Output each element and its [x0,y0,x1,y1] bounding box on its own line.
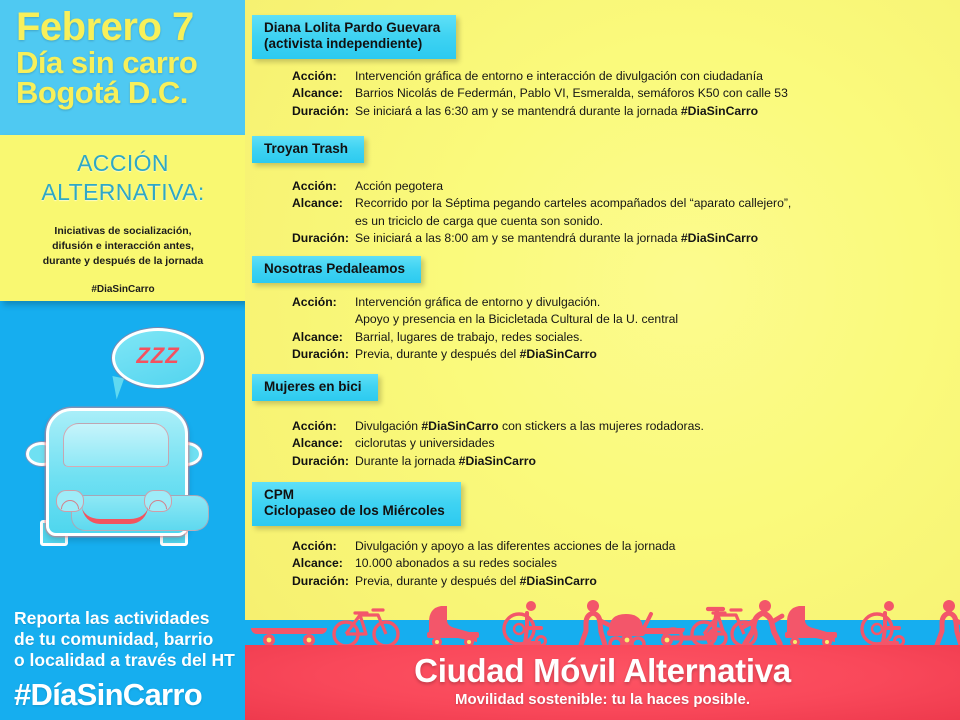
title-date: Febrero 7 [16,8,241,47]
zzz-text: ZZZ [115,331,201,381]
activity-detail-value: Barrios Nicolás de Federmán, Pablo VI, E… [355,85,960,102]
sleeping-car-illustration: ZZZ [0,320,245,585]
cta-hashtag: #DíaSinCarro [14,677,246,713]
activity-detail-label: Acción: [245,418,355,435]
activity-title-bar[interactable]: CPMCiclopaseo de los Miércoles [252,482,461,526]
activity-detail-value: Durante la jornada #DiaSinCarro [355,453,960,470]
activity-detail-row: Alcance:Barrial, lugares de trabajo, red… [245,329,960,346]
activity-detail-label: Alcance: [245,435,355,452]
activity-detail-label: Alcance: [245,85,355,102]
activity-detail-value: Acción pegotera [355,178,960,195]
activity-detail-row: Alcance:Barrios Nicolás de Federmán, Pab… [245,85,960,102]
activity-detail-value: Barrial, lugares de trabajo, redes socia… [355,329,960,346]
footer-title: Ciudad Móvil Alternativa [245,645,960,690]
activity-detail-value: ciclorutas y universidades [355,435,960,452]
poster-title: Febrero 7 Día sin carro Bogotá D.C. [16,8,241,108]
accion-alternativa-heading: ACCIÓN ALTERNATIVA: [0,135,246,208]
accion-alternativa-card: ACCIÓN ALTERNATIVA: Iniciativas de socia… [0,135,246,301]
activity-detail-row: Duración:Durante la jornada #DiaSinCarro [245,453,960,470]
activity-detail-label: Duración: [245,573,355,590]
activity-title-line: CPM [264,487,445,503]
hashtag-inline: #DiaSinCarro [681,104,758,118]
activity-title-line: Ciclopaseo de los Miércoles [264,503,445,519]
activity-detail-row: Duración:Previa, durante y después del #… [245,346,960,363]
cta-line-1: Reporta las actividades [14,608,246,629]
icon-group-2 [609,600,960,647]
activity-detail-label: Duración: [245,230,355,247]
activity-detail-label: Acción: [245,178,355,195]
activity-detail-value: es un triciclo de carga que cuenta son s… [355,213,960,230]
car-eye-left [56,490,84,512]
title-event: Día sin carro [16,48,241,78]
thought-bubble: ZZZ [112,328,204,388]
activity-title-bar[interactable]: Diana Lolita Pardo Guevara(activista ind… [252,15,456,59]
activity-title-bar[interactable]: Mujeres en bici [252,374,378,401]
footer-subtitle: Movilidad sostenible: tu la haces posibl… [245,691,960,708]
activity-block-list: Diana Lolita Pardo Guevara(activista ind… [245,0,960,600]
activity-detail-row: Duración:Previa, durante y después del #… [245,573,960,590]
hashtag-inline: #DiaSinCarro [681,231,758,245]
activity-detail-row: Duración:Se iniciará a las 6:30 am y se … [245,103,960,120]
report-call-to-action: Reporta las actividades de tu comunidad,… [14,608,246,713]
activity-detail-row: Acción:Divulgación y apoyo a las diferen… [245,538,960,555]
car-icon [24,402,204,547]
hashtag-inline: #DiaSinCarro [520,347,597,361]
activity-title-bar[interactable]: Nosotras Pedaleamos [252,256,421,283]
accion-alternativa-hashtag: #DiaSinCarro [0,270,246,295]
activity-title-line: Nosotras Pedaleamos [264,261,405,277]
activity-detail-row: Acción:Intervención gráfica de entorno e… [245,68,960,85]
accion-alternativa-body-line1: Iniciativas de socialización, [54,225,191,237]
activity-detail-row: Acción:Intervención gráfica de entorno y… [245,294,960,311]
activity-detail-label: Duración: [245,346,355,363]
footer-banner: Ciudad Móvil Alternativa Movilidad soste… [245,645,960,720]
accion-alternativa-heading-line1: ACCIÓN [77,150,169,176]
activity-detail-label: Duración: [245,103,355,120]
activity-detail-label: Acción: [245,294,355,311]
activity-detail-value: Previa, durante y después del #DiaSinCar… [355,346,960,363]
hashtag-inline: #DiaSinCarro [520,574,597,588]
activity-detail-row: Duración:Se iniciará a las 8:00 am y se … [245,230,960,247]
activity-detail-row: Acción:Acción pegotera [245,178,960,195]
activity-detail-value: Intervención gráfica de entorno e intera… [355,68,960,85]
activity-detail-value: Divulgación y apoyo a las diferentes acc… [355,538,960,555]
hashtag-inline: #DiaSinCarro [459,454,536,468]
activity-detail-row: Alcance:ciclorutas y universidades [245,435,960,452]
activity-detail-value: 10.000 abonados a su redes sociales [355,555,960,572]
activity-detail-value: Recorrido por la Séptima pegando cartele… [355,195,960,212]
activity-title-bar[interactable]: Troyan Trash [252,136,364,163]
activity-detail-value: Se iniciará a las 8:00 am y se mantendrá… [355,230,960,247]
activity-detail-label: Alcance: [245,555,355,572]
activity-detail-row: Alcance:10.000 abonados a su redes socia… [245,555,960,572]
activity-detail-value: Divulgación #DiaSinCarro con stickers a … [355,418,960,435]
accion-alternativa-body: Iniciativas de socialización, difusión e… [0,208,246,270]
activity-detail-value: Se iniciará a las 6:30 am y se mantendrá… [355,103,960,120]
cta-line-2: de tu comunidad, barrio [14,629,246,650]
activity-detail-rows: Acción:Intervención gráfica de entorno y… [245,294,960,363]
title-band: Febrero 7 Día sin carro Bogotá D.C. [0,0,245,135]
activity-detail-label: Acción: [245,68,355,85]
accion-alternativa-heading-line2: ALTERNATIVA: [41,179,204,205]
cta-line-3: o localidad a través del HT [14,650,246,671]
activity-detail-rows: Acción:Acción pegoteraAlcance:Recorrido … [245,178,960,247]
activities-panel: Diana Lolita Pardo Guevara(activista ind… [245,0,960,620]
accion-alternativa-body-line2: difusión e interacción antes, [52,240,194,252]
activity-detail-rows: Acción:Divulgación #DiaSinCarro con stic… [245,418,960,470]
activity-detail-value: Previa, durante y después del #DiaSinCar… [355,573,960,590]
activity-detail-label: Acción: [245,538,355,555]
activity-detail-label: Duración: [245,453,355,470]
activity-detail-label: Alcance: [245,329,355,346]
activity-detail-value: Intervención gráfica de entorno y divulg… [355,294,960,311]
hashtag-inline: #DiaSinCarro [421,419,498,433]
left-column: Febrero 7 Día sin carro Bogotá D.C. ACCI… [0,0,245,720]
activity-title-line: Troyan Trash [264,141,348,157]
title-city: Bogotá D.C. [16,78,241,108]
activity-detail-rows: Acción:Intervención gráfica de entorno e… [245,68,960,120]
activity-title-line: (activista independiente) [264,36,440,52]
activity-detail-row: Alcance:Recorrido por la Séptima pegando… [245,195,960,212]
mobility-icon-strip [245,596,960,650]
activity-detail-label: Alcance: [245,195,355,212]
activity-detail-row: Apoyo y presencia en la Bicicletada Cult… [245,311,960,328]
activity-title-line: Mujeres en bici [264,379,362,395]
activity-detail-rows: Acción:Divulgación y apoyo a las diferen… [245,538,960,590]
icon-group-1 [251,600,782,650]
activity-detail-row: Acción:Divulgación #DiaSinCarro con stic… [245,418,960,435]
car-smile [82,506,148,524]
activity-title-line: Diana Lolita Pardo Guevara [264,20,440,36]
activity-detail-row: es un triciclo de carga que cuenta son s… [245,213,960,230]
poster-root: Febrero 7 Día sin carro Bogotá D.C. ACCI… [0,0,960,720]
accion-alternativa-body-line3: durante y después de la jornada [43,255,203,267]
car-windshield [63,423,169,467]
car-eye-right [144,490,172,512]
activity-detail-value: Apoyo y presencia en la Bicicletada Cult… [355,311,960,328]
